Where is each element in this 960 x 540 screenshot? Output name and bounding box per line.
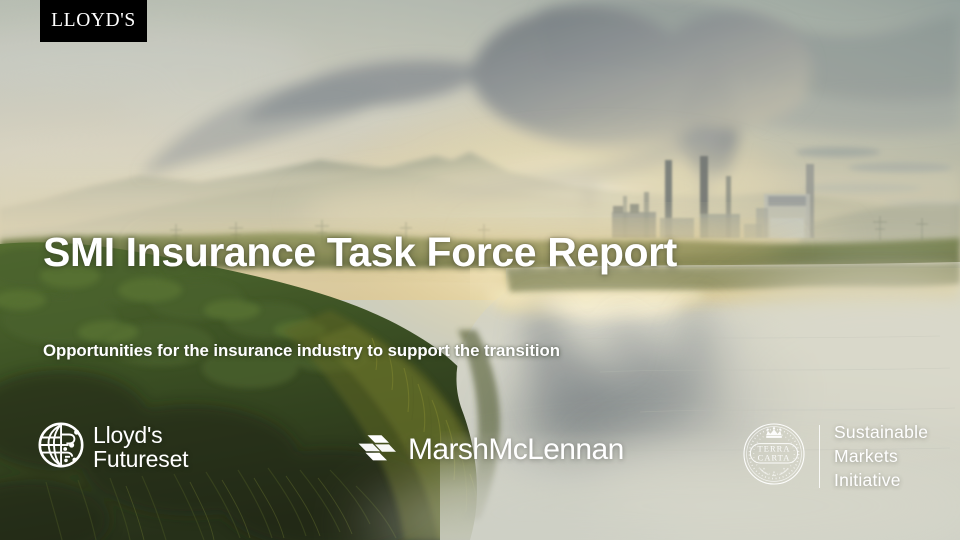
marsh-mclennan-wordmark: MarshMcLennan — [408, 433, 624, 467]
terra-carta-seal-icon: TERRA CARTA — [742, 422, 806, 491]
page-title: SMI Insurance Task Force Report — [43, 229, 677, 276]
logo-divider — [819, 425, 820, 488]
lloyds-futureset-wordmark: Lloyd's Futureset — [93, 424, 188, 471]
wordmark-line-2: Futureset — [93, 446, 188, 472]
smi-wordmark: Sustainable Markets Initiative — [834, 421, 928, 492]
smi-line-1: Sustainable — [834, 422, 928, 442]
interlocking-chevrons-icon — [357, 434, 397, 467]
lloyds-logo-box: LLOYD'S — [40, 0, 147, 42]
seal-text-line-2: CARTA — [758, 454, 791, 463]
logo-lloyds-futureset: Lloyd's Futureset — [38, 422, 188, 473]
smi-line-2: Markets — [834, 446, 898, 466]
wordmark-line-1: Lloyd's — [93, 422, 162, 448]
report-cover-slide: LLOYD'S SMI Insurance Task Force Report … — [0, 0, 960, 540]
globe-circuit-icon — [38, 422, 84, 473]
seal-text-line-1: TERRA — [758, 445, 791, 454]
logo-sustainable-markets-initiative: TERRA CARTA Sustainable Markets Initiati… — [742, 421, 928, 492]
smi-line-3: Initiative — [834, 470, 901, 490]
page-subtitle: Opportunities for the insurance industry… — [43, 341, 560, 361]
lloyds-logo-text: LLOYD'S — [51, 10, 136, 32]
logo-marsh-mclennan: MarshMcLennan — [357, 433, 624, 467]
